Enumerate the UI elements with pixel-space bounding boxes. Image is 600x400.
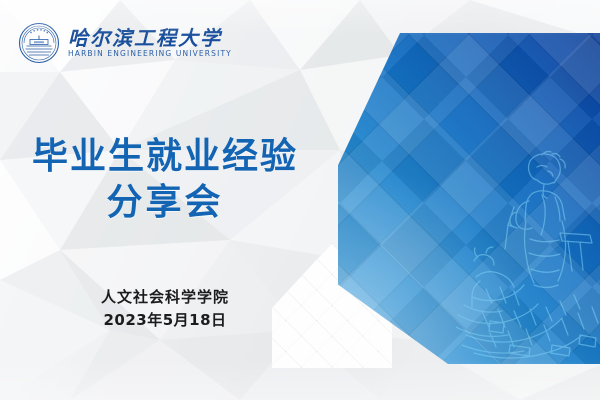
title-line-2: 分享会 (0, 180, 330, 226)
title-line-1: 毕业生就业经验 (0, 134, 330, 180)
organizer-text: 人文社会科学学院 (0, 286, 330, 309)
university-seal-icon (18, 22, 60, 64)
date-text: 2023年5月18日 (0, 309, 330, 332)
slide-title: 毕业生就业经验 分享会 (0, 134, 330, 226)
university-name-en: HARBIN ENGINEERING UNIVERSITY (68, 50, 232, 58)
university-logo: 哈尔滨工程大学 HARBIN ENGINEERING UNIVERSITY (18, 22, 232, 64)
campus-statue-line-art-icon (456, 149, 600, 364)
presentation-title-slide: 哈尔滨工程大学 HARBIN ENGINEERING UNIVERSITY 毕业… (0, 0, 600, 400)
slide-subtitle: 人文社会科学学院 2023年5月18日 (0, 286, 330, 333)
university-name-cn: 哈尔滨工程大学 (68, 28, 232, 48)
